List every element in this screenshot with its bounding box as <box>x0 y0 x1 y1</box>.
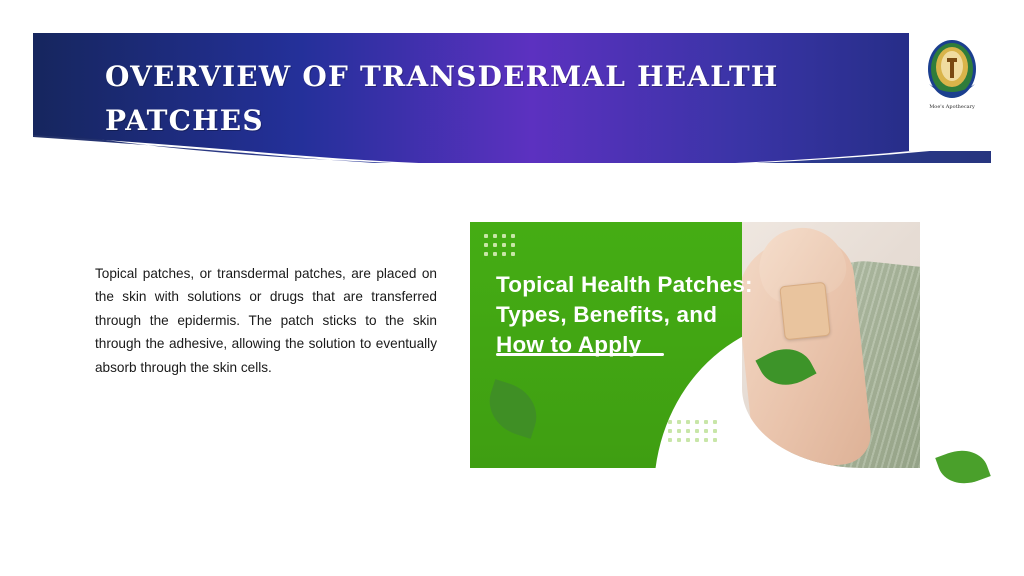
leaf-icon <box>935 442 991 492</box>
dot-pattern-top-left <box>484 234 515 256</box>
svg-text:Moe's Apothecary: Moe's Apothecary <box>929 104 975 110</box>
image-heading-underline <box>496 353 664 356</box>
body-paragraph: Topical patches, or transdermal patches,… <box>95 262 437 379</box>
image-heading: Topical Health Patches: Types, Benefits,… <box>496 270 776 360</box>
topical-patches-image: Topical Health Patches: Types, Benefits,… <box>470 222 920 468</box>
slide-header: Overview of Transdermal Health Patches <box>33 33 991 163</box>
page-title: Overview of Transdermal Health Patches <box>105 55 845 143</box>
transdermal-patch <box>779 282 830 341</box>
image-heading-line-1: Topical Health Patches: <box>496 270 776 300</box>
footer-strip <box>0 568 1024 576</box>
slide: Overview of Transdermal Health Patches M… <box>0 0 1024 576</box>
dot-pattern-bottom <box>668 420 717 442</box>
image-heading-line-2: Types, Benefits, and <box>496 300 776 330</box>
apothecary-egg-logo-icon: Moe's Apothecary <box>921 38 983 114</box>
